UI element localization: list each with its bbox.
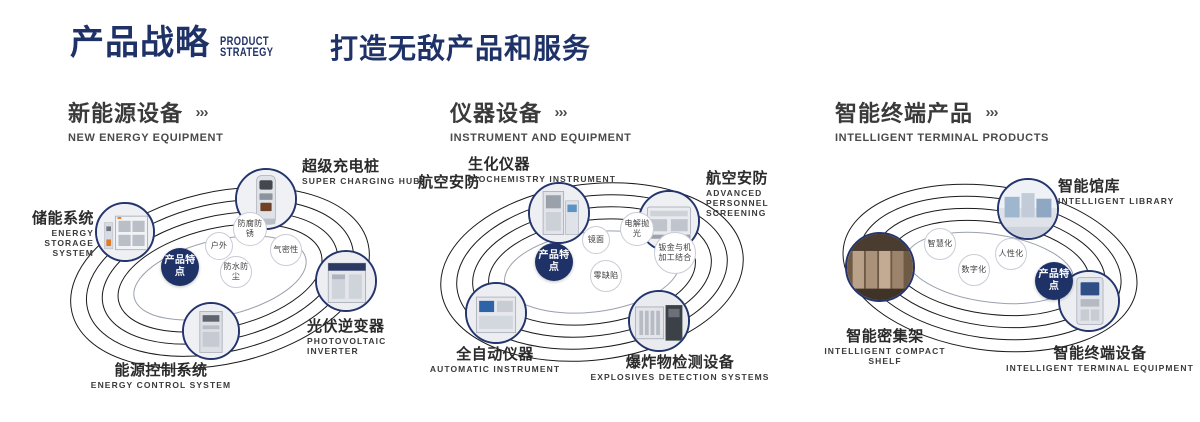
node-label-cn: 智能密集架 [810,328,960,345]
automatic-instrument-photo [467,284,525,342]
smart-library-photo [999,180,1057,238]
section-title-new-energy: 新能源设备 ››› NEW ENERGY EQUIPMENT [68,96,223,144]
biochemistry-analyzer-photo [530,184,588,242]
label-intelligent-library: 智能馆库 INTELLIGENT LIBRARY [1058,178,1174,207]
compact-shelf-photo [847,234,913,300]
feature-bubble-sheetmetal-machining[interactable]: 钣金与机加工结合 [654,232,696,274]
node-label-en: AUTOMATIC INSTRUMENT [420,365,570,375]
page-slogan: 打造无敌产品和服务 [330,34,591,65]
feature-label: 户外 [211,241,228,251]
diagram-instrument: 航空安防 生化仪器 BIOCHEMISTRY INSTRUMENT [410,150,810,410]
feature-label: 零缺陷 [594,271,619,281]
chevron-right-icon: ››› [554,104,566,121]
center-bubble-product-features[interactable]: 产品特点 [535,243,573,281]
node-label-en: INTELLIGENT TERMINAL EQUIPMENT [1005,364,1195,374]
node-explosives-detection-systems[interactable] [628,290,690,352]
node-intelligent-library[interactable] [997,178,1059,240]
node-photovoltaic-inverter[interactable] [315,250,377,312]
feature-label: 智慧化 [928,239,953,249]
center-bubble-product-features[interactable]: 产品特点 [161,248,199,286]
node-label-en: INTELLIGENT COMPACT SHELF [810,347,960,367]
feature-label: 人性化 [999,249,1024,259]
node-label-en: EXPLOSIVES DETECTION SYSTEMS [590,373,770,383]
label-intelligent-compact-shelf: 智能密集架 INTELLIGENT COMPACT SHELF [810,328,960,367]
chevron-right-icon: ››› [985,104,997,121]
node-label-cn: 能源控制系统 [86,362,236,379]
feature-label: 气密性 [274,245,299,255]
section-title-cn: 新能源设备 [68,96,183,128]
feature-label: 镜面 [588,235,605,245]
node-label-en: INTELLIGENT LIBRARY [1058,197,1174,207]
node-label-en: ADVANCED PERSONNEL SCREENING [706,189,806,218]
feature-bubble-anticorrosion[interactable]: 防腐防锈 [233,212,267,246]
feature-bubble-airtightness[interactable]: 气密性 [270,234,302,266]
node-label-en: ENERGY CONTROL SYSTEM [86,381,236,391]
feature-label: 防水防尘 [221,262,251,282]
node-energy-storage-system[interactable] [95,202,155,262]
inverter-cabinet-photo [317,252,375,310]
feature-bubble-electropolishing[interactable]: 电解抛光 [620,212,654,246]
chevron-right-icon: ››› [195,104,207,121]
node-label-cn: 全自动仪器 [420,346,570,363]
section-title-en: NEW ENERGY EQUIPMENT [68,132,223,144]
node-intelligent-compact-shelf[interactable] [845,232,915,302]
node-label-cn: 航空安防 [706,170,806,187]
center-bubble-label: 产品特点 [535,250,573,274]
product-strategy-infographic: 产品战略 PRODUCT STRATEGY 打造无敌产品和服务 新能源设备 ››… [0,0,1200,422]
explosives-detector-photo [630,292,688,350]
node-label-cn: 超级充电桩 [302,158,421,175]
feature-bubble-humanized[interactable]: 人性化 [995,238,1027,270]
section-title-cn: 仪器设备 [450,96,542,128]
page-title-cn: 产品战略 [70,26,210,60]
diagram-intelligent-terminal: 智能馆库 INTELLIGENT LIBRARY 智能密集架 INTELLIGE… [800,150,1200,410]
feature-label: 钣金与机加工结合 [655,243,695,263]
page-title-en: PRODUCT STRATEGY [220,36,273,58]
node-automatic-instrument[interactable] [465,282,527,344]
feature-bubble-intelligent[interactable]: 智慧化 [924,228,956,260]
node-label-cn: 爆炸物检测设备 [590,354,770,371]
section-title-instrument: 仪器设备 ››› INSTRUMENT AND EQUIPMENT [450,96,631,144]
control-cabinet-photo [184,304,238,358]
section-title-intelligent-terminal: 智能终端产品 ››› INTELLIGENT TERMINAL PRODUCTS [835,96,1049,144]
node-label-cn: 储能系统 [12,210,94,227]
center-bubble-label: 产品特点 [161,255,199,279]
label-biochemistry-instrument: 生化仪器 BIOCHEMISTRY INSTRUMENT [468,156,616,185]
node-energy-control-system[interactable] [182,302,240,360]
feature-bubble-zero-defect[interactable]: 零缺陷 [590,260,622,292]
node-label-cn: 生化仪器 [468,156,616,173]
battery-cabinet-photo [97,204,153,260]
node-label-en: ENERGY STORAGE SYSTEM [12,229,94,258]
center-bubble-product-features[interactable]: 产品特点 [1035,262,1073,300]
node-label-cn: 智能馆库 [1058,178,1174,195]
section-title-en: INTELLIGENT TERMINAL PRODUCTS [835,132,1049,144]
feature-bubble-outdoor[interactable]: 户外 [205,232,233,260]
feature-label: 数字化 [962,265,987,275]
label-automatic-instrument: 全自动仪器 AUTOMATIC INSTRUMENT [420,346,570,375]
diagram-new-energy: 储能系统 ENERGY STORAGE SYSTEM 超级充电桩 SUPER C… [30,150,430,410]
page-header: 产品战略 PRODUCT STRATEGY [70,26,288,60]
feature-bubble-mirror[interactable]: 镜面 [582,226,610,254]
label-energy-control-system: 能源控制系统 ENERGY CONTROL SYSTEM [86,362,236,391]
label-energy-storage-system: 储能系统 ENERGY STORAGE SYSTEM [12,210,94,259]
node-label-en: BIOCHEMISTRY INSTRUMENT [468,175,616,185]
feature-bubble-waterproof-dustproof[interactable]: 防水防尘 [220,256,252,288]
label-advanced-personnel-screening: 航空安防 ADVANCED PERSONNEL SCREENING [706,170,806,219]
feature-label: 电解抛光 [621,219,653,239]
node-biochemistry-instrument[interactable] [528,182,590,244]
section-title-en: INSTRUMENT AND EQUIPMENT [450,132,631,144]
label-explosives-detection-systems: 爆炸物检测设备 EXPLOSIVES DETECTION SYSTEMS [590,354,770,383]
label-intelligent-terminal-equipment: 智能终端设备 INTELLIGENT TERMINAL EQUIPMENT [1005,345,1195,374]
feature-label: 防腐防锈 [234,219,266,239]
center-bubble-label: 产品特点 [1035,269,1073,293]
feature-bubble-digital[interactable]: 数字化 [958,254,990,286]
node-label-cn: 智能终端设备 [1005,345,1195,362]
section-title-cn: 智能终端产品 [835,96,973,128]
